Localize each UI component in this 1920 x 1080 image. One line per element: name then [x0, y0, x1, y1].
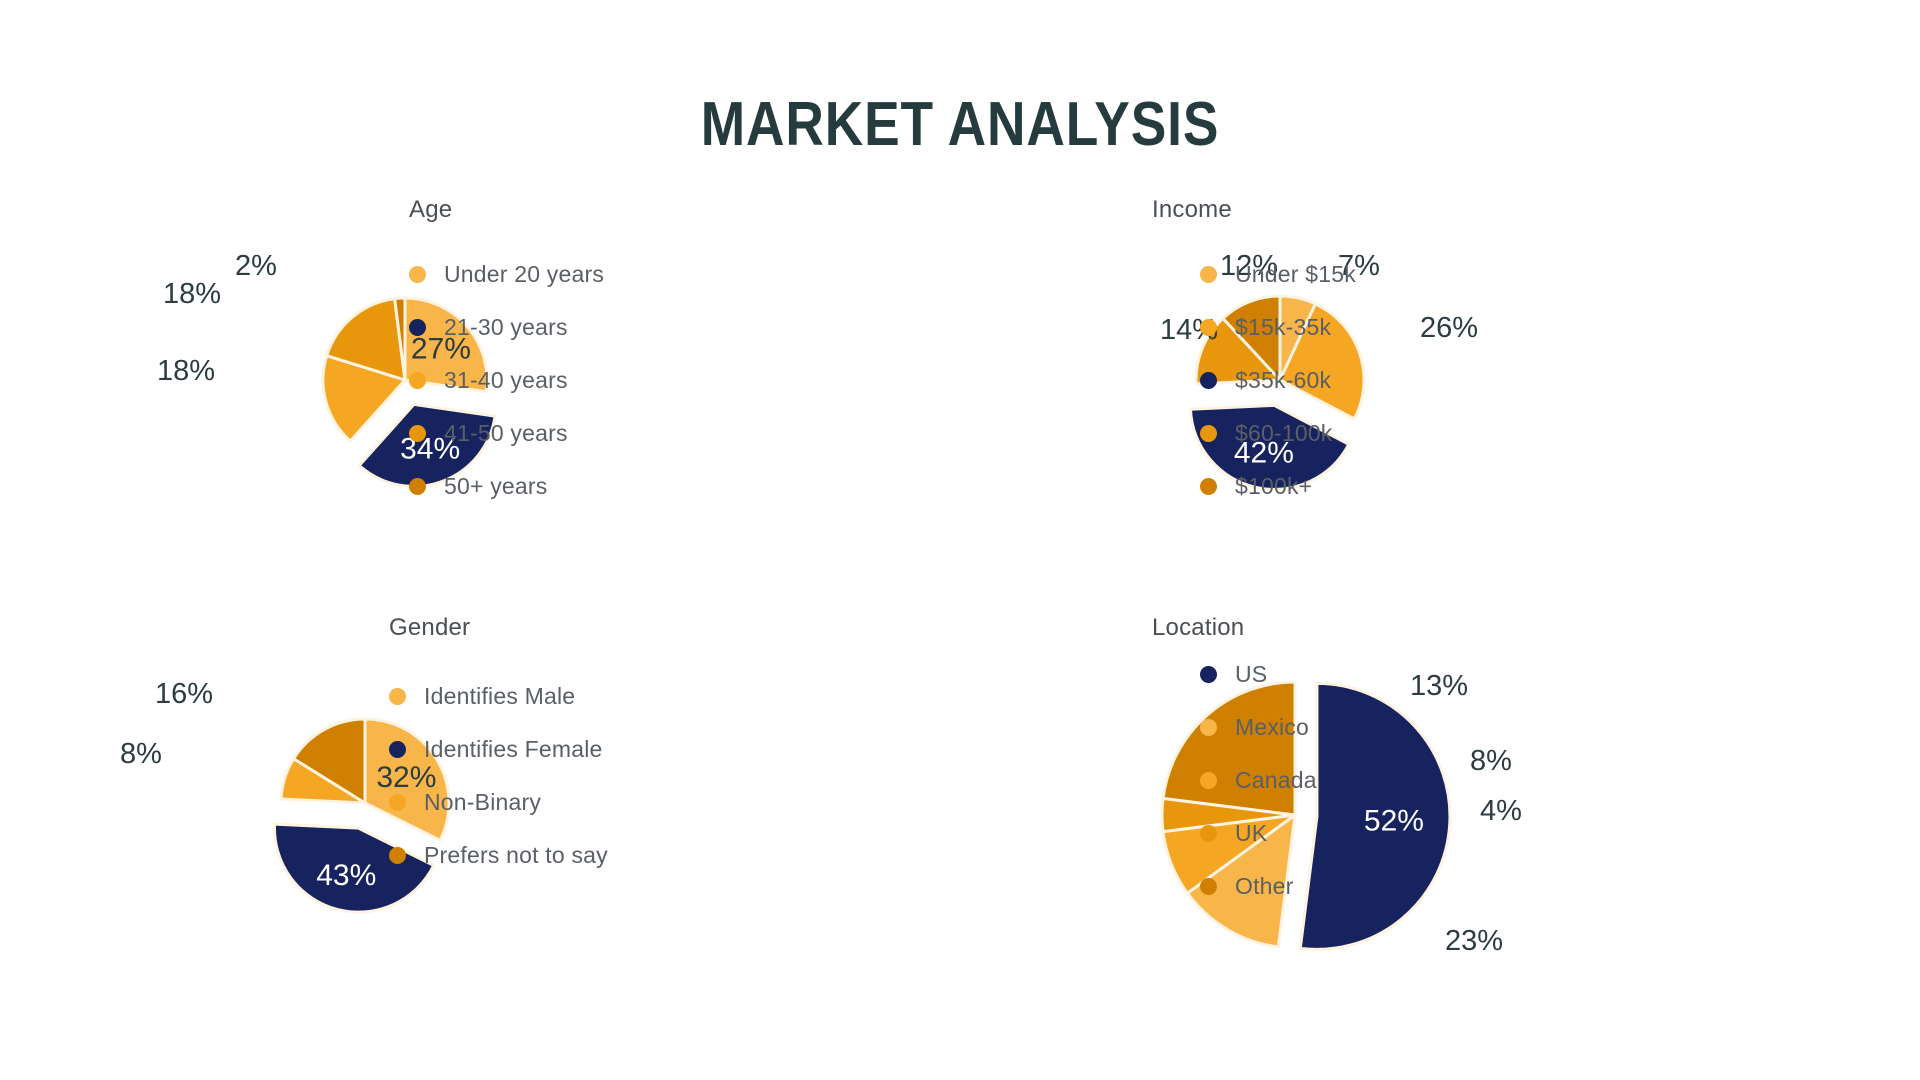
legend-item[interactable]: Under $15k	[1200, 248, 1356, 301]
slice-value-label: 18%	[157, 355, 215, 388]
legend-dot-icon	[389, 741, 406, 758]
legend-item-label: 50+ years	[444, 473, 547, 500]
legend-item[interactable]: 50+ years	[409, 460, 604, 513]
legend-dot-icon	[409, 372, 426, 389]
legend-item-label: Prefers not to say	[424, 842, 608, 869]
legend-item-label: Non-Binary	[424, 789, 541, 816]
legend-age: Under 20 years21-30 years31-40 years41-5…	[409, 248, 604, 513]
chart-title-age: Age	[409, 196, 452, 224]
legend-dot-icon	[409, 478, 426, 495]
legend-item-label: 21-30 years	[444, 314, 568, 341]
slice-value-label: 26%	[1420, 312, 1478, 345]
legend-item-label: 31-40 years	[444, 367, 568, 394]
legend-item[interactable]: UK	[1200, 807, 1317, 860]
legend-dot-icon	[409, 266, 426, 283]
legend-item-label: Canada	[1235, 767, 1317, 794]
legend-income: Under $15k$15k-35k$35k-60k$60-100k$100k+	[1200, 248, 1356, 513]
legend-item[interactable]: Non-Binary	[389, 776, 608, 829]
legend-item-label: 41-50 years	[444, 420, 568, 447]
legend-item-label: $15k-35k	[1235, 314, 1331, 341]
legend-location: USMexicoCanadaUKOther	[1200, 648, 1317, 913]
legend-item[interactable]: $100k+	[1200, 460, 1356, 513]
legend-item[interactable]: Mexico	[1200, 701, 1317, 754]
slice-value-label: 8%	[120, 738, 162, 771]
chart-panel-age: Age 27%34%18%18%2% Under 20 years21-30 y…	[0, 170, 960, 590]
legend-dot-icon	[389, 794, 406, 811]
slice-value-label: 2%	[235, 250, 277, 283]
slice-value-label: 8%	[1470, 745, 1512, 778]
chart-title-gender: Gender	[389, 614, 470, 642]
legend-item-label: US	[1235, 661, 1267, 688]
legend-item[interactable]: Other	[1200, 860, 1317, 913]
slice-value-label: 4%	[1480, 795, 1522, 828]
chart-panel-location: Location 52%13%8%4%23% USMexicoCanadaUKO…	[960, 590, 1920, 1010]
chart-panel-gender: Gender 32%43%8%16% Identifies MaleIdenti…	[0, 590, 960, 1010]
legend-item-label: $100k+	[1235, 473, 1312, 500]
legend-item[interactable]: Identifies Male	[389, 670, 608, 723]
legend-item-label: $60-100k	[1235, 420, 1333, 447]
legend-gender: Identifies MaleIdentifies FemaleNon-Bina…	[389, 670, 608, 882]
legend-dot-icon	[1200, 372, 1217, 389]
legend-dot-icon	[389, 688, 406, 705]
slice-value-label: 16%	[155, 678, 213, 711]
legend-item-label: UK	[1235, 820, 1267, 847]
legend-dot-icon	[1200, 478, 1217, 495]
legend-item[interactable]: 21-30 years	[409, 301, 604, 354]
legend-dot-icon	[1200, 825, 1217, 842]
chart-panel-income: Income 42%7%26%14%12% Under $15k$15k-35k…	[960, 170, 1920, 590]
legend-dot-icon	[1200, 878, 1217, 895]
legend-dot-icon	[1200, 772, 1217, 789]
legend-item-label: Other	[1235, 873, 1294, 900]
slice-value-label: 18%	[163, 278, 221, 311]
legend-dot-icon	[409, 425, 426, 442]
slice-value-label: 43%	[316, 859, 376, 892]
legend-dot-icon	[1200, 666, 1217, 683]
legend-item-label: Mexico	[1235, 714, 1309, 741]
legend-item-label: Under $15k	[1235, 261, 1356, 288]
slice-value-label: 23%	[1445, 925, 1503, 958]
legend-item-label: $35k-60k	[1235, 367, 1331, 394]
legend-item-label: Under 20 years	[444, 261, 604, 288]
legend-item[interactable]: Prefers not to say	[389, 829, 608, 882]
charts-grid: Age 27%34%18%18%2% Under 20 years21-30 y…	[0, 170, 1920, 1050]
legend-dot-icon	[1200, 266, 1217, 283]
page-title: MARKET ANALYSIS	[134, 94, 1785, 156]
legend-item[interactable]: $15k-35k	[1200, 301, 1356, 354]
legend-item[interactable]: $60-100k	[1200, 407, 1356, 460]
chart-title-income: Income	[1152, 196, 1232, 224]
legend-dot-icon	[409, 319, 426, 336]
legend-item[interactable]: Identifies Female	[389, 723, 608, 776]
legend-dot-icon	[389, 847, 406, 864]
legend-dot-icon	[1200, 719, 1217, 736]
legend-item[interactable]: Canada	[1200, 754, 1317, 807]
legend-item[interactable]: 41-50 years	[409, 407, 604, 460]
legend-item[interactable]: US	[1200, 648, 1317, 701]
legend-item-label: Identifies Female	[424, 736, 603, 763]
legend-dot-icon	[1200, 425, 1217, 442]
legend-item[interactable]: $35k-60k	[1200, 354, 1356, 407]
slice-value-label: 13%	[1410, 670, 1468, 703]
legend-item-label: Identifies Male	[424, 683, 575, 710]
legend-item[interactable]: Under 20 years	[409, 248, 604, 301]
legend-item[interactable]: 31-40 years	[409, 354, 604, 407]
legend-dot-icon	[1200, 319, 1217, 336]
slice-value-label: 52%	[1364, 805, 1424, 838]
